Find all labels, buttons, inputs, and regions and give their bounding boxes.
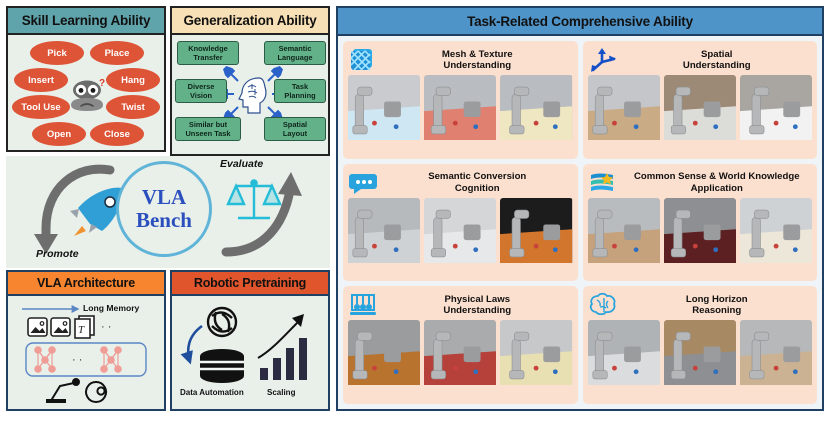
skill-bubble-insert[interactable]: Insert (14, 68, 68, 92)
skill-bubble-tool-use[interactable]: Tool Use (12, 95, 70, 119)
scene-thumbnail-tabletop-boxes-scene[interactable] (500, 75, 572, 154)
skill-bubble-close[interactable]: Close (90, 122, 144, 146)
robotic-pretraining-title: Robotic Pretraining (172, 272, 328, 296)
task-card[interactable]: SpatialUnderstanding (583, 41, 818, 159)
scene-thumbnail-cabinet-scene[interactable] (348, 75, 420, 154)
scene-thumbnail-shelf-row-scene[interactable] (588, 198, 660, 277)
vla-architecture-body: T · · · · (8, 296, 164, 409)
rocket-icon (70, 188, 122, 236)
task-thumbnail-row (348, 198, 573, 277)
books-icon (588, 169, 618, 197)
scene-thumbnail-kitchen-stove-scene[interactable] (348, 198, 420, 277)
generalization-chip-4[interactable]: Similar butUnseen Task (175, 117, 241, 141)
task-card-header: Long HorizonReasoning (588, 290, 813, 320)
spatial-axes-icon (588, 46, 618, 74)
task-thumbnail-row (348, 320, 573, 399)
brain-head-icon (235, 75, 271, 115)
scene-thumbnail-coffee-machine-scene[interactable] (588, 320, 660, 399)
skill-bubble-hang[interactable]: Hang (106, 68, 160, 92)
task-card[interactable]: Semantic ConversionCognition (343, 164, 578, 282)
task-card-title: Semantic ConversionCognition (382, 171, 573, 194)
vla-architecture-title: VLA Architecture (8, 272, 164, 296)
image-token-icon (28, 318, 47, 336)
scene-thumbnail-office-desk-scene[interactable] (740, 198, 812, 277)
robot-face-icon: ? (65, 78, 109, 118)
robotic-pretraining-panel: Robotic Pretraining (170, 270, 330, 411)
generalization-chip-1[interactable]: SemanticLanguage (264, 41, 326, 65)
task-card-title: Common Sense & World KnowledgeApplicatio… (622, 171, 813, 194)
skill-bubble-twist[interactable]: Twist (106, 95, 160, 119)
scene-thumbnail-bookshelf-scene[interactable] (664, 75, 736, 154)
task-card[interactable]: Long HorizonReasoning (583, 286, 818, 404)
skill-learning-panel: Skill Learning Ability ? PickPlaceInsert… (6, 6, 166, 152)
svg-text:T: T (78, 324, 85, 336)
scene-thumbnail-drawer-scene[interactable] (588, 75, 660, 154)
scene-thumbnail-white-table-dots-scene[interactable] (740, 75, 812, 154)
skill-learning-body: ? PickPlaceInsertHangTool UseTwistOpenCl… (8, 35, 164, 150)
evaluate-label: Evaluate (220, 158, 263, 170)
skill-learning-title: Skill Learning Ability (8, 8, 164, 35)
vla-brand-line-2: Bench (136, 209, 192, 232)
newton-cradle-icon (348, 291, 378, 319)
database-stack-icon (200, 349, 244, 383)
scene-thumbnail-tan-table-plate-scene[interactable] (740, 320, 812, 399)
gear-icon (86, 382, 106, 402)
task-thumbnail-row (348, 75, 573, 154)
figure-root: Skill Learning Ability ? PickPlaceInsert… (0, 0, 830, 423)
scene-thumbnail-wood-table-fruit-scene[interactable] (500, 198, 572, 277)
vla-brand-line-1: VLA (142, 186, 186, 209)
image-token-icon (51, 318, 70, 336)
scene-thumbnail-wood-floor-scene[interactable] (348, 320, 420, 399)
data-automation-label: Data Automation (180, 388, 244, 397)
svg-text:?: ? (99, 78, 105, 89)
task-card-title: Physical LawsUnderstanding (382, 294, 573, 317)
task-card-grid: Mesh & TextureUnderstanding (338, 36, 822, 409)
generalization-chip-5[interactable]: SpatialLayout (264, 117, 326, 141)
scale-icon (228, 180, 280, 218)
svg-text:· ·: · · (72, 354, 82, 366)
scene-thumbnail-yellow-table-cups-scene[interactable] (500, 320, 572, 399)
scene-thumbnail-white-counter-scene[interactable] (424, 198, 496, 277)
task-related-panel: Task-Related Comprehensive Ability Mesh … (336, 6, 824, 411)
vla-architecture-panel: VLA Architecture (6, 270, 166, 411)
speech-bubble-icon (348, 169, 378, 197)
scene-thumbnail-red-terrain-scene[interactable] (424, 75, 496, 154)
long-memory-label: Long Memory (83, 303, 139, 313)
promote-label: Promote (36, 248, 79, 260)
task-thumbnail-row (588, 75, 813, 154)
generalization-panel: Generalization Ability KnowledgeTrans (170, 6, 330, 156)
task-card[interactable]: Physical LawsUnderstanding (343, 286, 578, 404)
task-card-header: Common Sense & World KnowledgeApplicatio… (588, 168, 813, 198)
task-card-title: SpatialUnderstanding (622, 49, 813, 72)
text-token-icon: T (75, 316, 94, 338)
scene-thumbnail-pool-table-scene[interactable] (664, 198, 736, 277)
task-card-header: Semantic ConversionCognition (348, 168, 573, 198)
task-card-title: Mesh & TextureUnderstanding (382, 49, 573, 72)
task-thumbnail-row (588, 198, 813, 277)
task-card[interactable]: Common Sense & World KnowledgeApplicatio… (583, 164, 818, 282)
growth-bar-chart-icon (260, 338, 307, 380)
scaling-label: Scaling (267, 388, 295, 397)
task-card-header: Physical LawsUnderstanding (348, 290, 573, 320)
task-related-title: Task-Related Comprehensive Ability (338, 8, 822, 36)
task-card-title: Long HorizonReasoning (622, 294, 813, 317)
generalization-chip-0[interactable]: KnowledgeTransfer (177, 41, 239, 65)
mesh-cube-icon (348, 46, 378, 74)
svg-text:· ·: · · (101, 321, 111, 333)
scene-thumbnail-red-gravel-scene[interactable] (424, 320, 496, 399)
generalization-chip-3[interactable]: TaskPlanning (274, 79, 326, 103)
task-card-header: SpatialUnderstanding (588, 45, 813, 75)
skill-bubble-open[interactable]: Open (32, 122, 86, 146)
vla-bench-center: VLA Bench Promote Evaluate (6, 156, 330, 268)
skill-bubble-pick[interactable]: Pick (30, 41, 84, 65)
brain-icon (588, 291, 618, 319)
generalization-title: Generalization Ability (172, 8, 328, 35)
scene-thumbnail-wood-shelf-scene[interactable] (664, 320, 736, 399)
robotic-pretraining-body: Data Automation Scaling (172, 296, 328, 409)
task-related-body: Mesh & TextureUnderstanding (338, 36, 822, 409)
vla-bench-badge: VLA Bench (116, 161, 212, 257)
generalization-body: KnowledgeTransferSemanticLanguageDiverse… (172, 35, 328, 154)
task-card-header: Mesh & TextureUnderstanding (348, 45, 573, 75)
skill-bubble-place[interactable]: Place (90, 41, 144, 65)
task-thumbnail-row (588, 320, 813, 399)
openai-swirl-icon (208, 308, 236, 336)
robot-arm-icon (46, 379, 79, 403)
task-card[interactable]: Mesh & TextureUnderstanding (343, 41, 578, 159)
generalization-chip-2[interactable]: DiverseVision (175, 79, 227, 103)
